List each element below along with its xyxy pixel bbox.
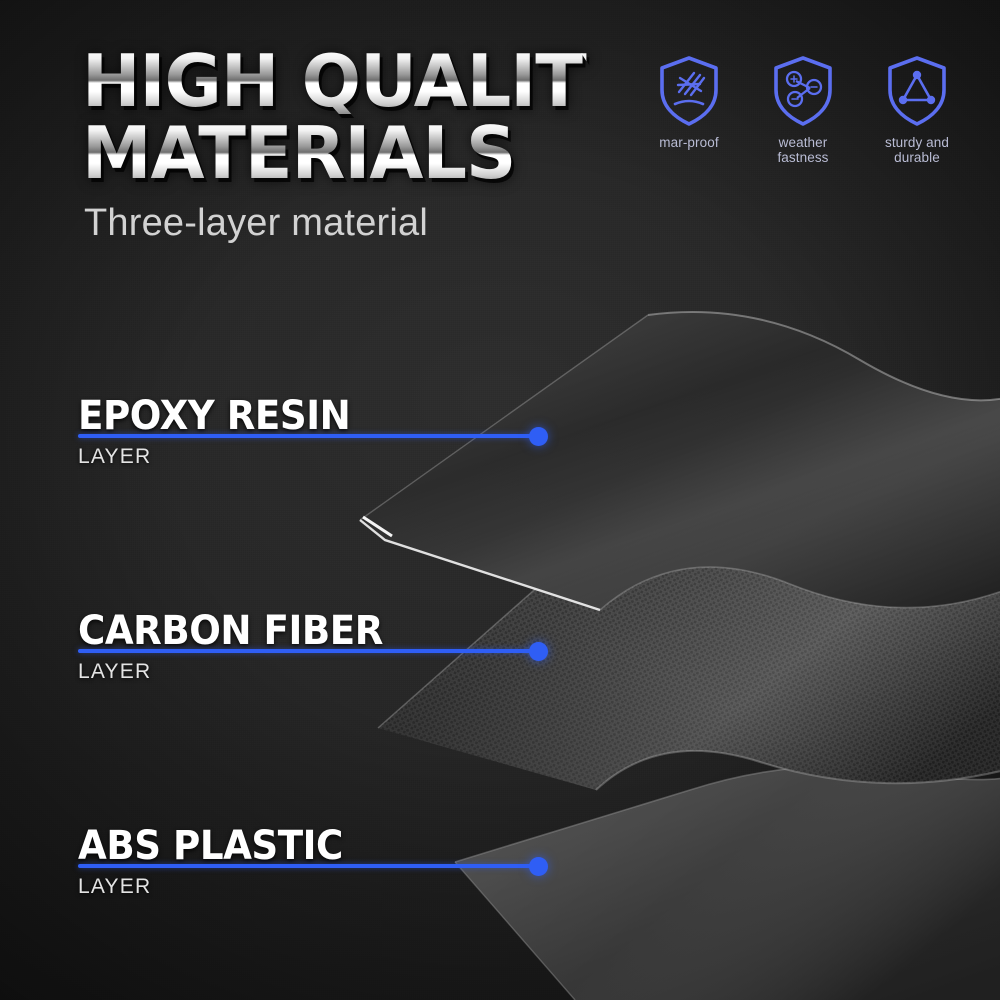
leader-dot-abs: [529, 857, 548, 876]
page-subtitle: Three-layer material: [84, 202, 602, 245]
shield-scratch-icon: [656, 54, 722, 128]
feature-badge-group: mar-proof weatherfastness: [645, 54, 961, 165]
callout-carbon-fiber: CARBON FIBER LAYER: [78, 611, 406, 684]
badge-label: sturdy anddurable: [885, 135, 949, 165]
leader-dot-carbon: [529, 642, 548, 661]
shield-triangle-icon: [884, 54, 950, 128]
leader-line-carbon: [78, 649, 538, 653]
badge-sturdy-durable[interactable]: sturdy anddurable: [873, 54, 961, 165]
epoxy-resin-sheet: [360, 312, 1000, 610]
layer-sublabel: LAYER: [78, 660, 406, 684]
leader-line-abs: [78, 864, 538, 868]
badge-label: mar-proof: [659, 135, 718, 150]
page-title-line-1: HIGH QUALITY: [82, 48, 586, 114]
layer-sublabel: LAYER: [78, 875, 363, 899]
badge-mar-proof[interactable]: mar-proof: [645, 54, 733, 165]
leader-line-epoxy: [78, 434, 538, 438]
infographic-canvas: HIGH QUALITY MATERIALS Three-layer mater…: [0, 0, 1000, 1000]
header-block: HIGH QUALITY MATERIALS Three-layer mater…: [82, 48, 602, 245]
layer-sublabel: LAYER: [78, 445, 371, 469]
layer-name: ABS PLASTIC: [78, 826, 343, 866]
leader-dot-epoxy: [529, 427, 548, 446]
badge-label: weatherfastness: [777, 135, 828, 165]
callout-abs-plastic: ABS PLASTIC LAYER: [78, 826, 363, 899]
badge-weather-fastness[interactable]: weatherfastness: [759, 54, 847, 165]
shield-molecule-icon: [770, 54, 836, 128]
abs-plastic-sheet: [455, 766, 1000, 1000]
layer-name: CARBON FIBER: [78, 611, 383, 651]
callout-epoxy-resin: EPOXY RESIN LAYER: [78, 396, 371, 469]
layer-name: EPOXY RESIN: [78, 396, 350, 436]
page-title-line-2: MATERIALS: [82, 120, 586, 186]
